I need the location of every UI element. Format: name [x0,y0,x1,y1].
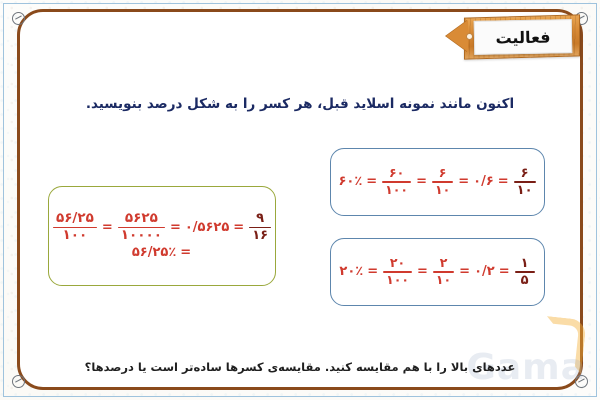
equation-line: ۹۱۶=۰/۵۶۲۵=۵۶۲۵۱۰۰۰۰=۵۶/۲۵۱۰۰ [52,212,272,243]
decimal-value: ۰/۵۶۲۵ [185,220,229,235]
fraction-denominator: ۱۰۰۰۰ [118,229,165,243]
wooden-arrow-tip-icon [446,20,468,52]
fraction-numerator: ۱ [518,257,532,270]
fraction-denominator: ۱۰ [433,274,454,287]
fraction: ۲۱۰ [433,257,454,286]
decimal-value: ۰/۶ [473,174,494,189]
fraction-numerator: ۶ [436,167,450,180]
equation-expression: ۹۱۶=۰/۵۶۲۵=۵۶۲۵۱۰۰۰۰=۵۶/۲۵۱۰۰=۵۶/۲۵٪ [52,212,272,260]
fraction-denominator: ۵ [518,274,532,287]
equals-operator: = [366,264,379,279]
fraction: ۲۰۱۰۰ [383,257,412,286]
equation-expression: ۱۵=۰/۲=۲۱۰=۲۰۱۰۰=۲۰٪ [339,257,535,287]
fraction-numerator: ۶۰ [386,167,407,180]
equals-operator: = [179,245,192,260]
fraction-numerator: ۵۶۲۵ [122,212,161,226]
fraction: ۵۶/۲۵۱۰۰ [53,212,97,243]
equation-line: ۶۱۰=۰/۶=۶۱۰=۶۰۱۰۰=۶۰٪ [338,167,536,197]
box-fraction-9-16: ۹۱۶=۰/۵۶۲۵=۵۶۲۵۱۰۰۰۰=۵۶/۲۵۱۰۰=۵۶/۲۵٪ [48,186,276,286]
corner-screw-icon [12,12,25,25]
decimal-value: ۰/۲ [474,264,495,279]
fraction-denominator: ۱۰۰ [382,184,411,197]
fraction: ۹۱۶ [249,212,271,242]
equals-operator: = [101,220,114,235]
fraction: ۶۰۱۰۰ [382,167,411,196]
equals-operator: = [498,264,511,279]
nail-icon [466,33,473,40]
banner-label: فعالیت [474,19,573,55]
fraction: ۶۱۰ [432,167,453,196]
equals-operator: = [232,220,245,235]
fraction: ۱۵ [515,257,535,287]
instruction-text: اکنون مانند نمونه اسلاید قبل، هر کسر را … [45,96,555,112]
fraction-denominator: ۱۰ [514,184,536,197]
percent-value: ۵۶/۲۵٪ [132,245,176,260]
bottom-question-text: عددهای بالا را با هم مقایسه کنید. مقایسه… [40,360,560,374]
fraction-numerator: ۵۶/۲۵ [53,212,97,226]
corner-screw-icon [12,375,25,388]
fraction-denominator: ۱۶ [249,229,271,242]
equation-line: ۱۵=۰/۲=۲۱۰=۲۰۱۰۰=۲۰٪ [339,257,535,287]
box-fraction-1-5: ۱۵=۰/۲=۲۱۰=۲۰۱۰۰=۲۰٪ [330,238,545,306]
fraction-denominator: ۱۰ [432,184,453,197]
fraction-numerator: ۶ [518,167,532,180]
fraction-numerator: ۹ [253,212,267,225]
percent-value: ۶۰٪ [338,174,362,189]
equals-operator: = [416,264,429,279]
fraction-denominator: ۱۰۰ [60,229,91,243]
fraction: ۵۶۲۵۱۰۰۰۰ [118,212,165,243]
equals-operator: = [365,174,378,189]
fraction-numerator: ۲۰ [387,257,408,270]
activity-banner: فعالیت [446,12,578,60]
fraction-denominator: ۱۰۰ [383,274,412,287]
equation-line: =۵۶/۲۵٪ [132,245,192,260]
equals-operator: = [169,220,182,235]
equals-operator: = [497,174,510,189]
corner-screw-icon [575,375,588,388]
equals-operator: = [457,174,470,189]
banner-title: فعالیت [495,27,550,47]
box-fraction-6-10: ۶۱۰=۰/۶=۶۱۰=۶۰۱۰۰=۶۰٪ [330,148,545,216]
slide-canvas: Gama فعالیت اکنون مانند نمونه اسلاید قبل… [0,0,600,400]
equation-expression: ۶۱۰=۰/۶=۶۱۰=۶۰۱۰۰=۶۰٪ [338,167,536,197]
fraction: ۶۱۰ [514,167,536,197]
equals-operator: = [458,264,471,279]
equals-operator: = [415,174,428,189]
fraction-numerator: ۲ [437,257,451,270]
percent-value: ۲۰٪ [339,264,363,279]
